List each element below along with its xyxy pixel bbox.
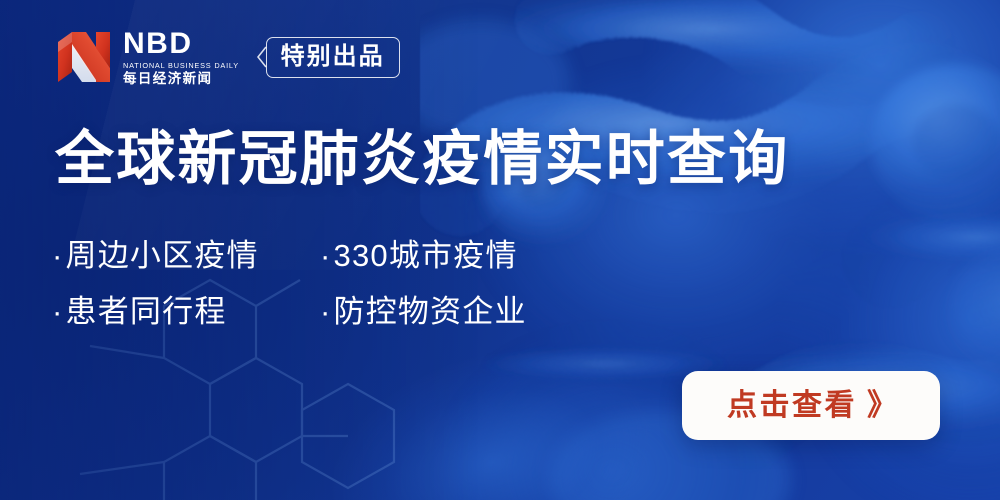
feature-label: 周边小区疫情	[66, 240, 259, 271]
click-to-view-button[interactable]: 点击查看 》	[682, 371, 940, 440]
bullet-dot-icon: ·	[320, 296, 332, 327]
banner-header: NBD NATIONAL BUSINESS DAILY 每日经济新闻 特别出品	[56, 29, 400, 86]
bullet-dot-icon: ·	[52, 296, 64, 327]
nbd-logo[interactable]: NBD NATIONAL BUSINESS DAILY 每日经济新闻	[56, 29, 237, 86]
badge-label: 特别出品	[266, 37, 400, 78]
nbd-logo-text: NBD NATIONAL BUSINESS DAILY 每日经济新闻	[123, 29, 237, 86]
feature-row: · 周边小区疫情 · 330城市疫情	[52, 240, 580, 296]
double-chevron-right-icon: 》	[867, 391, 895, 421]
feature-item[interactable]: · 周边小区疫情	[52, 240, 320, 271]
logo-wordmark: NBD	[123, 29, 193, 59]
page-title: 全球新冠肺炎疫情实时查询	[55, 128, 789, 191]
feature-label: 330城市疫情	[334, 240, 518, 271]
logo-subtitle-en: NATIONAL BUSINESS DAILY	[123, 62, 239, 69]
feature-item[interactable]: · 330城市疫情	[320, 240, 580, 271]
feature-list: · 周边小区疫情 · 330城市疫情 · 患者同行程 · 防控物资企业	[52, 240, 580, 352]
cta-label: 点击查看	[727, 391, 857, 421]
feature-label: 患者同行程	[66, 296, 227, 327]
feature-item[interactable]: · 防控物资企业	[320, 296, 580, 327]
nbd-n-mark-icon	[56, 30, 112, 84]
feature-row: · 患者同行程 · 防控物资企业	[52, 296, 580, 352]
special-edition-badge: 特别出品	[257, 37, 400, 78]
bullet-dot-icon: ·	[52, 240, 64, 271]
feature-label: 防控物资企业	[334, 296, 527, 327]
logo-subtitle-cn: 每日经济新闻	[123, 72, 212, 86]
feature-item[interactable]: · 患者同行程	[52, 296, 320, 327]
bullet-dot-icon: ·	[320, 240, 332, 271]
promo-banner: NBD NATIONAL BUSINESS DAILY 每日经济新闻 特别出品 …	[0, 0, 1000, 500]
